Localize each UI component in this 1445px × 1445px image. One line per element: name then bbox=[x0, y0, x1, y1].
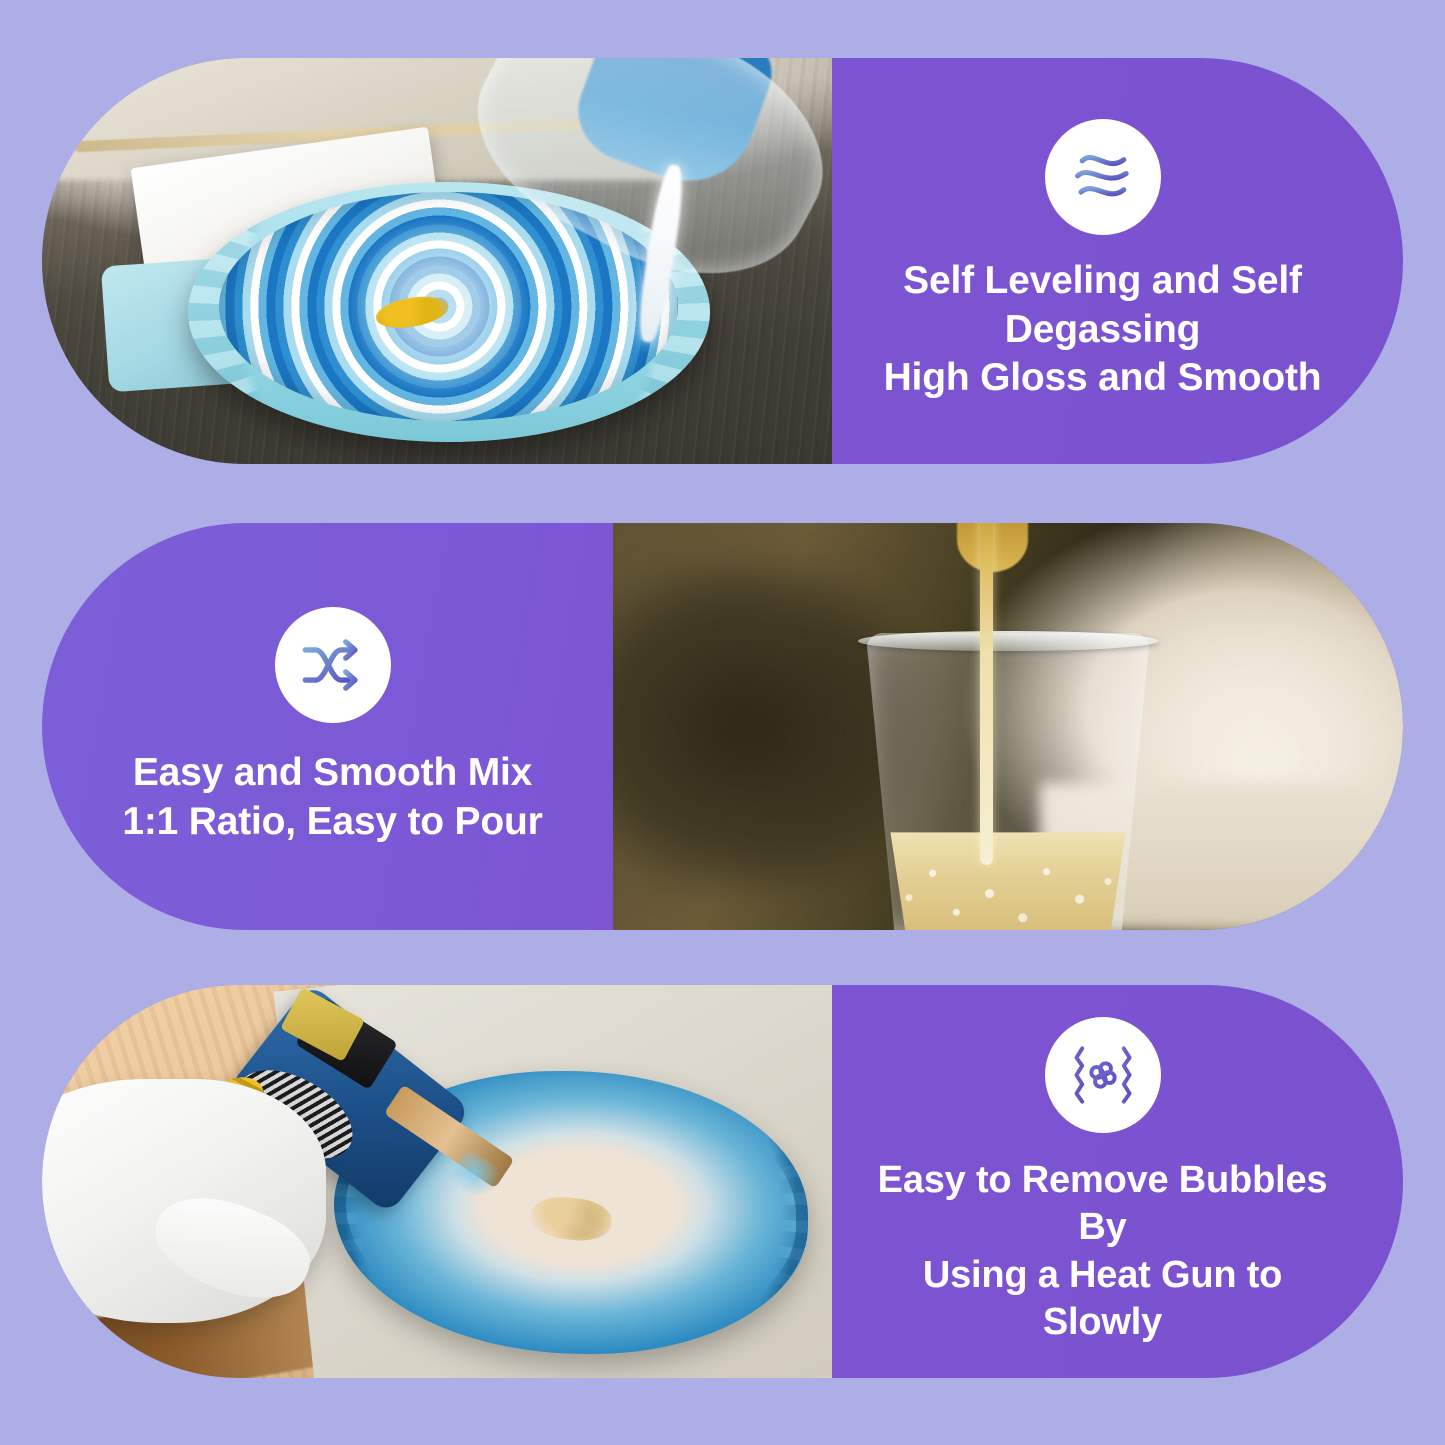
resin-bubbles bbox=[890, 849, 1127, 930]
feature-caption-easy-mix: Easy and Smooth Mix 1:1 Ratio, Easy to P… bbox=[42, 523, 613, 930]
cup-rim bbox=[858, 631, 1158, 651]
infographic-board: Self Leveling and Self Degassing High Gl… bbox=[0, 0, 1445, 1445]
waves-icon bbox=[1066, 140, 1140, 214]
heat-gun-removing-bubbles-photo bbox=[42, 985, 832, 1378]
shuffle-mix-icon bbox=[296, 628, 370, 702]
heat-swirl-icon-badge bbox=[1045, 1017, 1161, 1133]
shuffle-mix-icon-badge bbox=[275, 607, 391, 723]
feature-panel-easy-mix: Easy and Smooth Mix 1:1 Ratio, Easy to P… bbox=[42, 523, 1403, 930]
feature-title-self-leveling: Self Leveling and Self Degassing High Gl… bbox=[862, 257, 1343, 403]
resin-pour-into-coaster-mold-photo bbox=[42, 58, 832, 464]
feature-title-remove-bubbles: Easy to Remove Bubbles By Using a Heat G… bbox=[862, 1157, 1343, 1347]
amber-resin-stream bbox=[980, 523, 993, 865]
feature-caption-self-leveling: Self Leveling and Self Degassing High Gl… bbox=[832, 58, 1403, 464]
heat-swirl-icon bbox=[1066, 1038, 1140, 1112]
feature-panel-remove-bubbles: Easy to Remove Bubbles By Using a Heat G… bbox=[42, 985, 1403, 1378]
feature-title-easy-mix: Easy and Smooth Mix 1:1 Ratio, Easy to P… bbox=[122, 749, 542, 847]
feature-panel-self-leveling: Self Leveling and Self Degassing High Gl… bbox=[42, 58, 1403, 464]
feature-caption-remove-bubbles: Easy to Remove Bubbles By Using a Heat G… bbox=[832, 985, 1403, 1378]
waves-icon-badge bbox=[1045, 119, 1161, 235]
resin-pouring-into-plastic-cup-photo bbox=[613, 523, 1403, 930]
